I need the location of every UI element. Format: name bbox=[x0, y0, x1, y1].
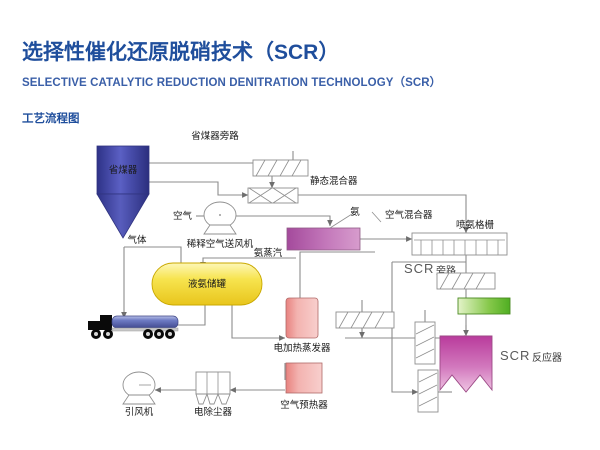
equipment-air-preheater[interactable]: 空气预热器 bbox=[280, 363, 328, 411]
esp-label: 电除尘器 bbox=[194, 406, 233, 418]
equipment-scr-reactor[interactable] bbox=[440, 336, 492, 392]
economizer-bypass-label: 省煤器旁路 bbox=[191, 130, 239, 142]
pipe-gas-to-tank bbox=[124, 247, 181, 263]
slide-canvas: 选择性催化还原脱硝技术（SCR） SELECTIVE CATALYTIC RED… bbox=[0, 0, 600, 450]
equipment-damper-above-catalyst[interactable] bbox=[437, 273, 495, 289]
injection-grid-label: 喷氨格栅 bbox=[456, 219, 495, 231]
dilution-air-fan-label: 稀释空气送风机 bbox=[187, 238, 254, 250]
equipment-electric-heating-evaporator[interactable]: 电加热蒸发器 bbox=[273, 298, 331, 354]
scr-reactor-label-group: SCR 反应器 bbox=[500, 348, 562, 364]
equipment-tanker-truck[interactable] bbox=[88, 315, 178, 339]
ammonia-word-label: 氨 bbox=[350, 206, 360, 218]
pipe-static-mixer-to-grid bbox=[297, 195, 466, 233]
equipment-ammonia-injection-grid[interactable]: 喷氨格栅 bbox=[412, 219, 507, 255]
equipment-damper-vertical-right[interactable] bbox=[415, 322, 435, 364]
air-stream-label: 空气 bbox=[173, 210, 193, 222]
equipment-economizer[interactable]: 省煤器 bbox=[97, 146, 149, 238]
equipment-induced-draft-fan[interactable]: 引风机 bbox=[123, 372, 155, 418]
id-fan-label: 引风机 bbox=[125, 406, 154, 418]
equipment-static-mixer[interactable]: 静态混合器 bbox=[248, 175, 358, 203]
economizer-label: 省煤器 bbox=[109, 164, 138, 176]
ammonia-air-mixer-label: 空气混合器 bbox=[385, 209, 433, 221]
equipment-ammonia-storage-tank[interactable]: 液氨储罐 bbox=[152, 263, 262, 305]
scr-reactor-prefix: SCR bbox=[500, 348, 530, 363]
equipment-electrostatic-precipitator[interactable]: 电除尘器 bbox=[194, 372, 233, 418]
pipe-scr-bypass bbox=[392, 262, 418, 392]
equipment-dilution-air-fan[interactable]: 空气 稀释空气送风机 bbox=[173, 202, 254, 250]
ammonia-vapor-label: 氨蒸汽 bbox=[254, 247, 283, 259]
equipment-damper-economizer-bypass[interactable] bbox=[253, 160, 308, 176]
pipe-economizer-outlet bbox=[148, 182, 248, 195]
equipment-damper-mid[interactable] bbox=[336, 312, 394, 328]
electric-heater-label: 电加热蒸发器 bbox=[273, 342, 331, 354]
scr-reactor-suffix: 反应器 bbox=[532, 351, 562, 364]
pipe-dilution-air-to-mixer bbox=[235, 216, 330, 226]
ammonia-tank-label: 液氨储罐 bbox=[188, 278, 227, 290]
equipment-damper-bypass-bottom[interactable] bbox=[418, 370, 438, 412]
process-flow-diagram: 省煤器 静态混合器 空气 稀释空气送风机 氨 空气混合器 bbox=[0, 0, 600, 450]
pipe-ammonia-vapor-riser bbox=[300, 252, 375, 300]
equipment-catalyst-layer[interactable] bbox=[458, 298, 510, 314]
static-mixer-label: 静态混合器 bbox=[310, 175, 358, 187]
air-preheater-label: 空气预热器 bbox=[280, 399, 328, 411]
equipment-ammonia-air-mixer[interactable]: 氨 空气混合器 bbox=[287, 206, 433, 250]
gas-stream-label: 气体 bbox=[127, 234, 147, 246]
scr-bypass-prefix: SCR bbox=[404, 261, 434, 276]
